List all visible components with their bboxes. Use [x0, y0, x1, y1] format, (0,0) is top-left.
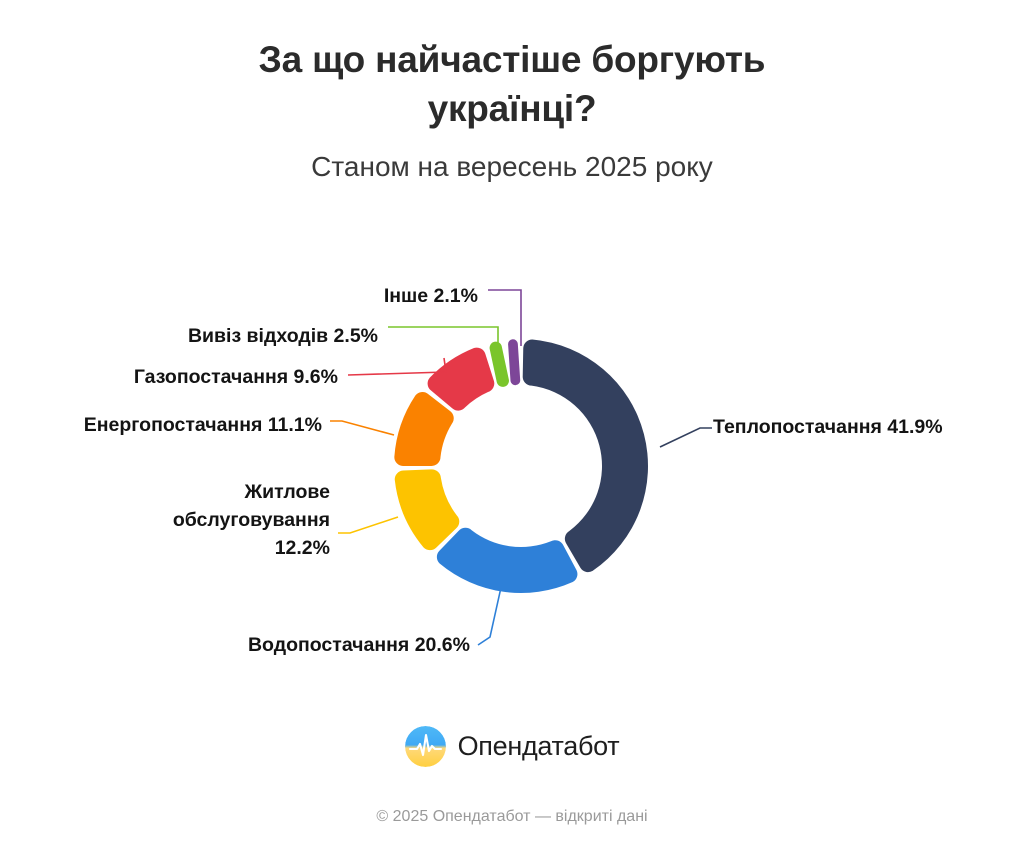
donut-slice[interactable]	[437, 528, 578, 593]
leader-line	[660, 428, 712, 447]
slice-label: Житловеобслуговування12.2%	[173, 481, 330, 559]
slice-label: Вивіз відходів 2.5%	[188, 325, 378, 347]
page-title: За що найчастіше боргують українці?	[182, 36, 842, 134]
opendatabot-logo-icon	[405, 726, 446, 767]
leader-line	[488, 290, 521, 346]
leader-line	[330, 421, 394, 435]
slice-label: Енергопостачання 11.1%	[84, 414, 322, 436]
brand-name: Опендатабот	[458, 733, 620, 760]
leader-line	[478, 583, 502, 645]
donut-chart: Теплопостачання 41.9%Водопостачання 20.6…	[0, 215, 1024, 705]
copyright-text: © 2025 Опендатабот — відкриті дані	[0, 808, 1024, 826]
brand-lockup: Опендатабот	[0, 726, 1024, 767]
donut-slice[interactable]	[395, 469, 460, 550]
chart-header: За що найчастіше боргують українці? Стан…	[0, 0, 1024, 183]
logo-svg	[405, 726, 446, 767]
donut-slice[interactable]	[428, 348, 495, 411]
page-subtitle: Станом на вересень 2025 року	[0, 150, 1024, 184]
donut-slice[interactable]	[394, 392, 453, 466]
slice-label: Водопостачання 20.6%	[248, 634, 470, 656]
leader-line	[348, 358, 446, 375]
donut-chart-container: Теплопостачання 41.9%Водопостачання 20.6…	[0, 215, 1024, 705]
page-title-line-2: українці?	[428, 88, 597, 129]
donut-slices	[394, 339, 648, 593]
donut-slice[interactable]	[523, 340, 648, 573]
leader-line	[388, 327, 498, 351]
donut-slice[interactable]	[508, 339, 521, 386]
leader-line	[338, 517, 398, 533]
slice-label: Газопостачання 9.6%	[134, 366, 338, 388]
slice-label: Теплопостачання 41.9%	[713, 416, 943, 438]
slice-label: Інше 2.1%	[384, 285, 478, 307]
page-title-line-1: За що найчастіше боргують	[259, 39, 766, 80]
